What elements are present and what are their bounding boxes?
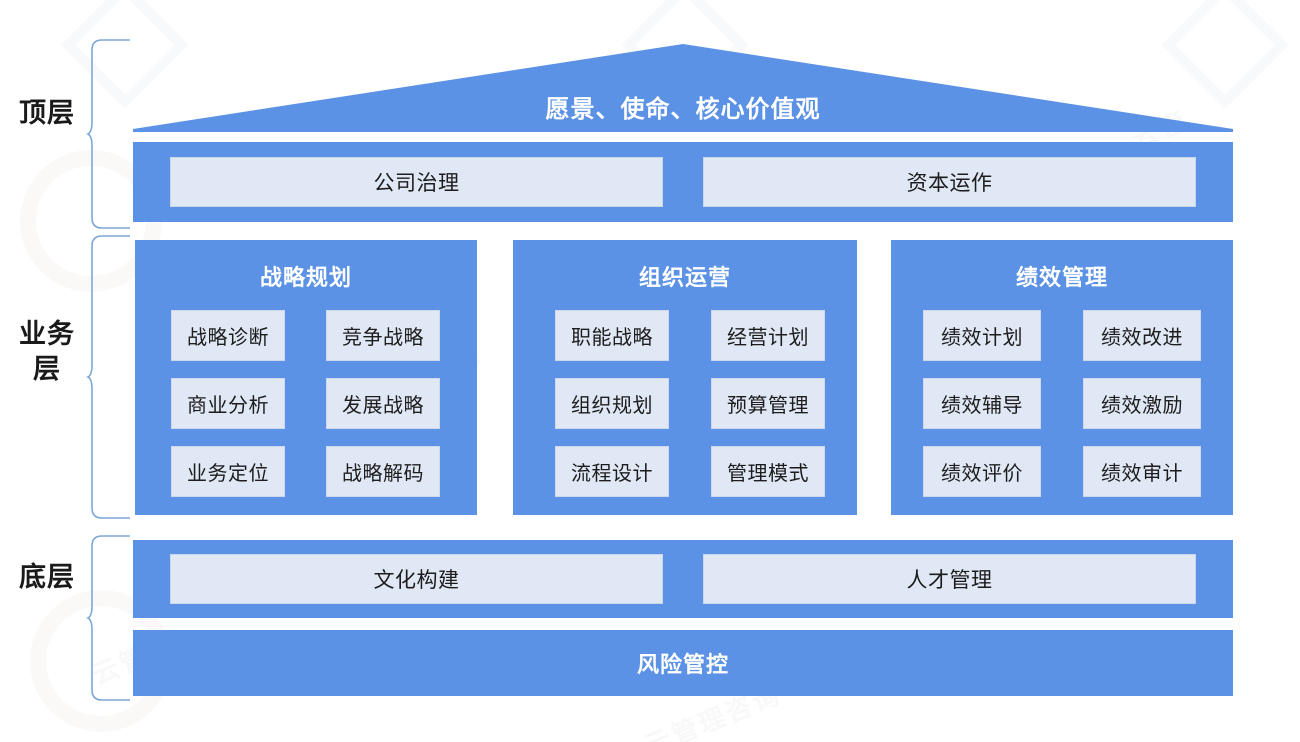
layer-label-business: 业务层 [16, 317, 78, 387]
cell-performance-coaching[interactable]: 绩效辅导 [923, 378, 1041, 429]
cell-performance-audit[interactable]: 绩效审计 [1083, 446, 1201, 497]
pillar-title-organization-operations: 组织运营 [513, 260, 857, 292]
pillar-title-performance-management: 绩效管理 [891, 260, 1233, 292]
cell-functional-strategy[interactable]: 职能战略 [555, 310, 669, 361]
foundation-bar-risk-control[interactable]: 风险管控 [133, 630, 1233, 696]
top-layer-box-capital[interactable]: 资本运作 [703, 157, 1196, 207]
roof-title: 愿景、使命、核心价值观 [133, 44, 1233, 132]
cell-performance-improvement[interactable]: 绩效改进 [1083, 310, 1201, 361]
roof: 愿景、使命、核心价值观 [133, 44, 1233, 132]
strategy-house-diagram: 云管家 云管理咨询 云管 顶层 业务层 底层 愿景、使命、核心价值观 公司治理 … [0, 0, 1300, 742]
layer-label-top: 顶层 [16, 96, 78, 131]
cell-competitive-strategy[interactable]: 竞争战略 [326, 310, 440, 361]
cell-business-analysis[interactable]: 商业分析 [171, 378, 285, 429]
bottom-layer-box-culture[interactable]: 文化构建 [170, 554, 663, 604]
cell-strategy-decoding[interactable]: 战略解码 [326, 446, 440, 497]
cell-organization-planning[interactable]: 组织规划 [555, 378, 669, 429]
cell-strategy-diagnosis[interactable]: 战略诊断 [171, 310, 285, 361]
cell-process-design[interactable]: 流程设计 [555, 446, 669, 497]
cell-business-positioning[interactable]: 业务定位 [171, 446, 285, 497]
bottom-layer-box-talent[interactable]: 人才管理 [703, 554, 1196, 604]
layer-label-bottom: 底层 [16, 560, 78, 595]
cell-performance-incentive[interactable]: 绩效激励 [1083, 378, 1201, 429]
cell-business-plan[interactable]: 经营计划 [711, 310, 825, 361]
cell-performance-plan[interactable]: 绩效计划 [923, 310, 1041, 361]
cell-development-strategy[interactable]: 发展战略 [326, 378, 440, 429]
pillar-organization-operations: 组织运营 职能战略 经营计划 组织规划 预算管理 流程设计 管理模式 [513, 240, 857, 515]
cell-budget-management[interactable]: 预算管理 [711, 378, 825, 429]
cell-performance-evaluation[interactable]: 绩效评价 [923, 446, 1041, 497]
cell-management-model[interactable]: 管理模式 [711, 446, 825, 497]
pillar-title-strategy-planning: 战略规划 [135, 260, 477, 292]
pillar-strategy-planning: 战略规划 战略诊断 竞争战略 商业分析 发展战略 业务定位 战略解码 [135, 240, 477, 515]
top-layer-box-governance[interactable]: 公司治理 [170, 157, 663, 207]
pillar-performance-management: 绩效管理 绩效计划 绩效改进 绩效辅导 绩效激励 绩效评价 绩效审计 [891, 240, 1233, 515]
